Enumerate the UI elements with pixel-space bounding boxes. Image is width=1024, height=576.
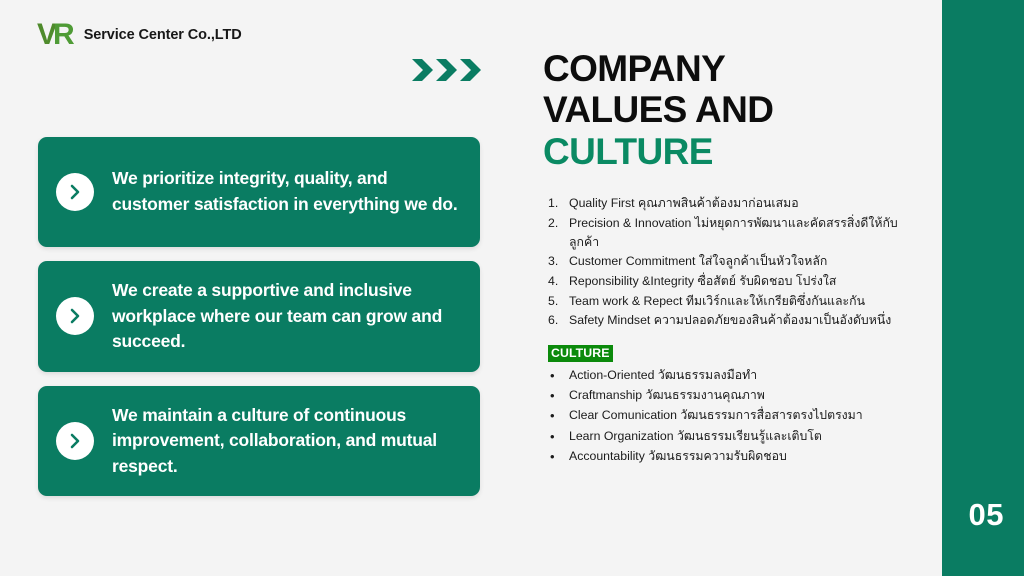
page-title-line-1: COMPANY — [543, 48, 915, 89]
bullet-icon: • — [543, 386, 569, 406]
list-item: 3. Customer Commitment ใส่ใจลูกค้าเป็นหั… — [543, 252, 915, 271]
list-item-text: Action-Oriented วัฒนธรรมลงมือทำ — [569, 366, 915, 386]
right-accent-panel — [942, 0, 1024, 576]
company-name: Service Center Co.,LTD — [84, 27, 242, 44]
list-item-index: 3. — [543, 252, 569, 271]
list-item-index: 6. — [543, 311, 569, 330]
chevron-right-circle-icon — [56, 297, 94, 335]
value-card[interactable]: We create a supportive and inclusive wor… — [38, 261, 480, 372]
bullet-icon: • — [543, 366, 569, 386]
triple-chevron-right-icon — [412, 57, 482, 83]
values-numbered-list: 1. Quality First คุณภาพสินค้าต้องมาก่อนเ… — [543, 194, 915, 330]
chevron-right-circle-icon — [56, 173, 94, 211]
list-item-text: Accountability วัฒนธรรมความรับผิดชอบ — [569, 447, 915, 467]
list-item: • Action-Oriented วัฒนธรรมลงมือทำ — [543, 366, 915, 386]
list-item-text: Precision & Innovation ไม่หยุดการพัฒนาแล… — [569, 214, 915, 251]
value-card[interactable]: We prioritize integrity, quality, and cu… — [38, 137, 480, 247]
list-item: 1. Quality First คุณภาพสินค้าต้องมาก่อนเ… — [543, 194, 915, 213]
bullet-icon: • — [543, 447, 569, 467]
list-item: • Craftmanship วัฒนธรรมงานคุณภาพ — [543, 386, 915, 406]
list-item: 2. Precision & Innovation ไม่หยุดการพัฒน… — [543, 214, 915, 251]
culture-section-heading: CULTURE — [548, 345, 613, 362]
list-item-index: 2. — [543, 214, 569, 251]
value-cards-list: We prioritize integrity, quality, and cu… — [38, 137, 480, 496]
list-item-text: Safety Mindset ความปลอดภัยของสินค้าต้องม… — [569, 311, 915, 330]
logo-mark-icon: VR — [37, 20, 74, 50]
list-item: • Learn Organization วัฒนธรรมเรียนรู้และ… — [543, 427, 915, 447]
list-item-text: Clear Comunication วัฒนธรรมการสื่อสารตรง… — [569, 406, 915, 426]
page-number: 05 — [969, 499, 1004, 530]
list-item-index: 4. — [543, 272, 569, 291]
value-card[interactable]: We maintain a culture of continuous impr… — [38, 386, 480, 497]
list-item-index: 1. — [543, 194, 569, 213]
list-item-text: Quality First คุณภาพสินค้าต้องมาก่อนเสมอ — [569, 194, 915, 213]
list-item: • Accountability วัฒนธรรมความรับผิดชอบ — [543, 447, 915, 467]
list-item-text: Reponsibility &Integrity ซื่อสัตย์ รับผิ… — [569, 272, 915, 291]
page-title: COMPANY VALUES AND CULTURE — [543, 48, 915, 172]
company-logo: VR Service Center Co.,LTD — [37, 20, 242, 50]
value-card-text: We prioritize integrity, quality, and cu… — [112, 166, 458, 217]
list-item-text: Learn Organization วัฒนธรรมเรียนรู้และเต… — [569, 427, 915, 447]
page-title-line-3: CULTURE — [543, 131, 915, 172]
list-item-text: Customer Commitment ใส่ใจลูกค้าเป็นหัวใจ… — [569, 252, 915, 271]
list-item-text: Craftmanship วัฒนธรรมงานคุณภาพ — [569, 386, 915, 406]
value-card-text: We maintain a culture of continuous impr… — [112, 403, 458, 480]
list-item: 5. Team work & Repect ทีมเวิร์กและให้เกร… — [543, 292, 915, 311]
culture-bullet-list: • Action-Oriented วัฒนธรรมลงมือทำ • Craf… — [543, 366, 915, 467]
page-title-line-2: VALUES AND — [543, 89, 915, 130]
list-item: 4. Reponsibility &Integrity ซื่อสัตย์ รั… — [543, 272, 915, 291]
list-item-index: 5. — [543, 292, 569, 311]
list-item-text: Team work & Repect ทีมเวิร์กและให้เกรียต… — [569, 292, 915, 311]
chevron-right-circle-icon — [56, 422, 94, 460]
value-card-text: We create a supportive and inclusive wor… — [112, 278, 458, 355]
logo-letter-r: R — [53, 20, 74, 50]
list-item: 6. Safety Mindset ความปลอดภัยของสินค้าต้… — [543, 311, 915, 330]
bullet-icon: • — [543, 406, 569, 426]
list-item: • Clear Comunication วัฒนธรรมการสื่อสารต… — [543, 406, 915, 426]
bullet-icon: • — [543, 427, 569, 447]
content-column: COMPANY VALUES AND CULTURE 1. Quality Fi… — [543, 48, 915, 467]
